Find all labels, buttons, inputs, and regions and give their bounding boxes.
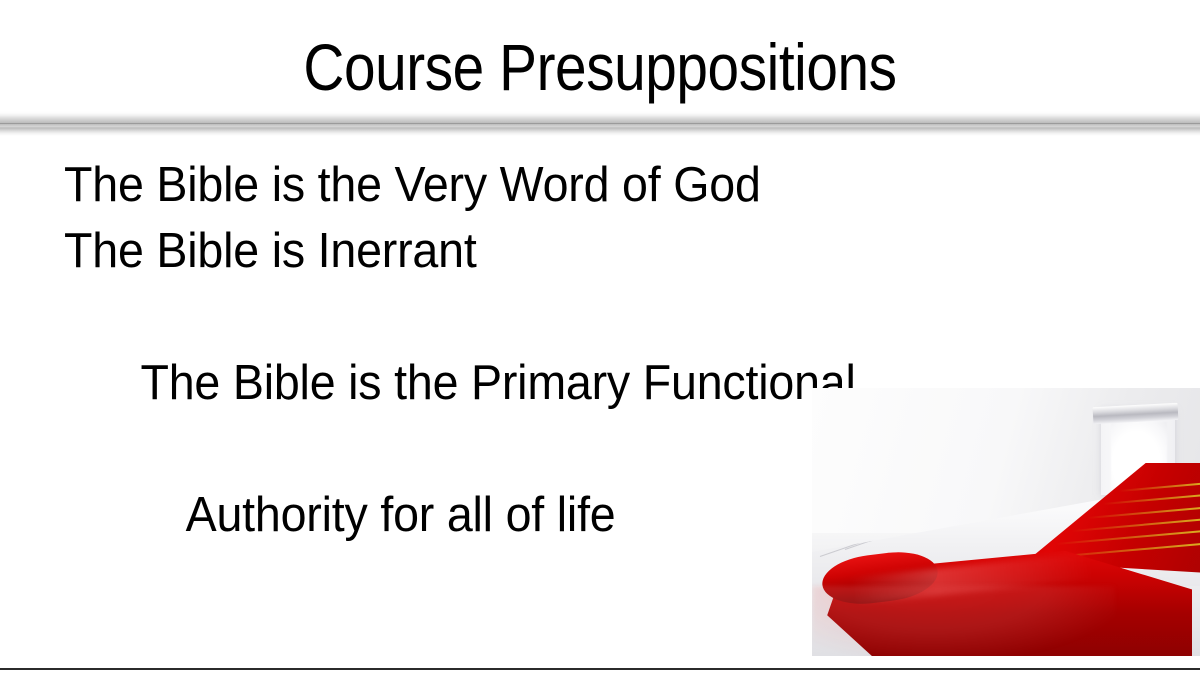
bullet-item-3-line-1: The Bible is the Primary Functional bbox=[140, 356, 855, 410]
title-divider-bar bbox=[0, 111, 1200, 136]
image-carpet-reflection bbox=[812, 586, 1115, 656]
bullet-item-1: The Bible is the Very Word of God bbox=[64, 152, 1014, 218]
slide-title: Course Presuppositions bbox=[84, 28, 1116, 106]
slide-bottom-rule bbox=[0, 668, 1200, 670]
red-carpet-stairs-image bbox=[812, 388, 1200, 656]
bullet-item-2: The Bible is Inerrant bbox=[64, 218, 1014, 284]
presentation-slide: Course Presuppositions The Bible is the … bbox=[0, 0, 1200, 675]
